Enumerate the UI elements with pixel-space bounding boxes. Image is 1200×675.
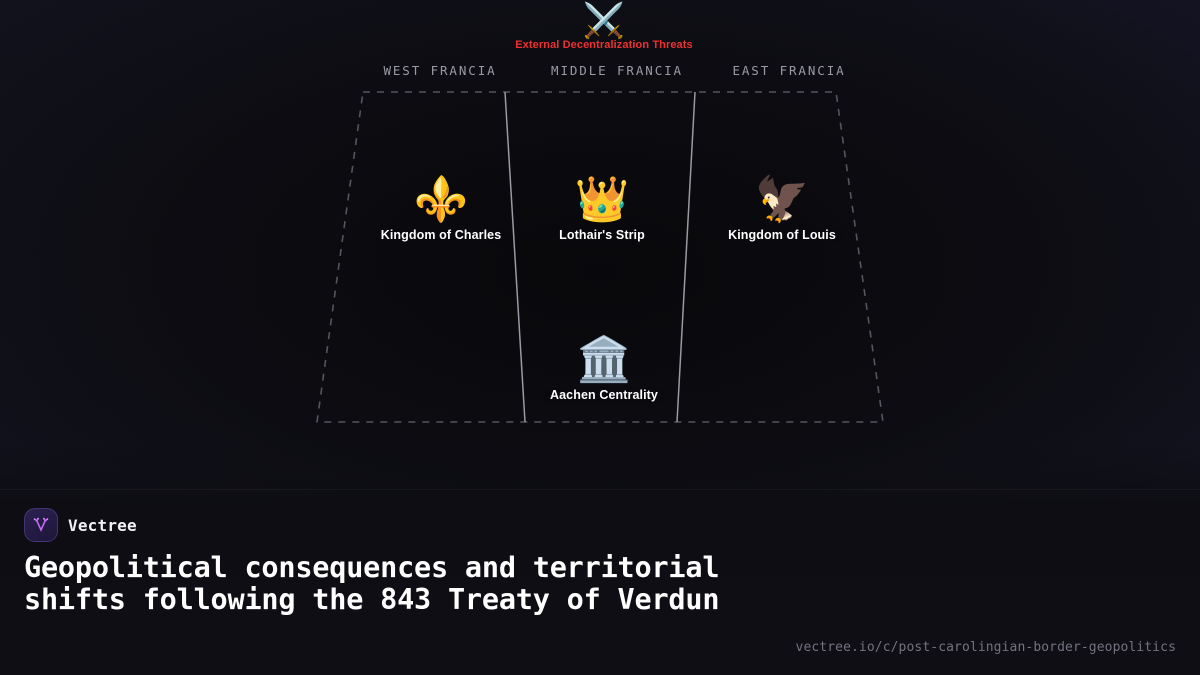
column-header-east-francia: EAST FRANCIA [732,63,845,78]
classical-building-icon: 🏛️ [509,335,699,385]
brand-name: Vectree [68,516,137,535]
footer: Vectree Geopolitical consequences and te… [0,490,1200,675]
vectree-glyph [31,515,51,535]
page-title: Geopolitical consequences and territoria… [24,552,764,616]
vectree-logo-icon [24,508,58,542]
external-threat-marker[interactable]: ⚔️ External Decentralization Threats [515,4,693,51]
brand[interactable]: Vectree [24,508,137,542]
column-header-middle-francia: MIDDLE FRANCIA [551,63,683,78]
crown-icon: 👑 [507,175,697,225]
column-header-west-francia: WEST FRANCIA [383,63,496,78]
node-label-lothairs-strip: Lothair's Strip [553,227,651,243]
external-threat-label: External Decentralization Threats [515,39,693,51]
eagle-icon: 🦅 [687,175,877,225]
node-lothairs-strip[interactable]: 👑 Lothair's Strip [507,175,697,244]
node-label-aachen-centrality: Aachen Centrality [544,387,664,403]
node-label-kingdom-of-louis: Kingdom of Louis [722,227,842,243]
crossed-swords-icon: ⚔️ [515,4,693,38]
node-label-kingdom-of-charles: Kingdom of Charles [375,227,508,243]
source-url: vectree.io/c/post-carolingian-border-geo… [796,640,1176,655]
node-kingdom-of-louis[interactable]: 🦅 Kingdom of Louis [687,175,877,244]
node-aachen-centrality[interactable]: 🏛️ Aachen Centrality [509,335,699,404]
